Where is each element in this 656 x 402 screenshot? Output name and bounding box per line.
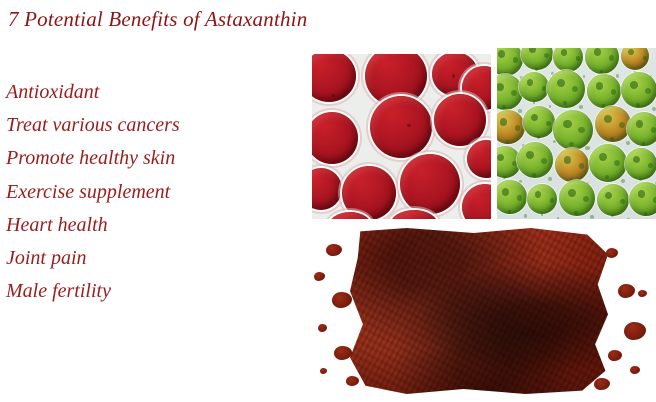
algae-cell: [497, 48, 523, 76]
powder-granule: [314, 272, 325, 281]
algae-cell: [547, 70, 585, 108]
algae-cell: [523, 106, 555, 138]
powder-granule: [594, 378, 610, 390]
list-item: Male fertility: [6, 275, 180, 308]
algae-cell: [595, 106, 631, 142]
algae-cell: [555, 148, 589, 182]
list-item: Joint pain: [6, 242, 180, 275]
red-cell: [400, 154, 460, 214]
list-item: Promote healthy skin: [6, 142, 180, 175]
powder-granule: [606, 248, 618, 258]
astaxanthin-powder-photo: [308, 228, 656, 394]
powder-granule: [630, 366, 640, 374]
list-item: Heart health: [6, 209, 180, 242]
text-column: 7 Potential Benefits of Astaxanthin Anti…: [6, 0, 306, 402]
red-astaxanthin-cells-photo: [312, 54, 491, 219]
powder-granule: [638, 290, 647, 297]
algae-cell: [625, 148, 656, 180]
algae-cell: [527, 184, 557, 214]
algae-cell: [497, 110, 525, 144]
algae-cell: [553, 48, 583, 72]
list-item: Treat various cancers: [6, 109, 180, 142]
cell-speck: [407, 124, 411, 127]
algae-cell: [597, 184, 629, 216]
red-cell: [462, 184, 491, 219]
red-cell: [370, 96, 432, 158]
algae-cell: [517, 142, 553, 178]
powder-granule: [346, 376, 359, 386]
powder-granule: [332, 292, 352, 308]
red-cell: [434, 94, 486, 146]
algae-cell: [627, 112, 656, 146]
benefits-list: Antioxidant Treat various cancers Promot…: [6, 76, 180, 308]
powder-granule: [326, 244, 342, 256]
cell-speck: [452, 74, 455, 78]
red-cell: [467, 140, 491, 178]
red-cell: [312, 168, 342, 210]
algae-cell: [497, 180, 527, 214]
powder-granule: [618, 284, 635, 298]
algae-cell: [521, 48, 553, 70]
algae-cell: [621, 72, 656, 108]
algae-cell: [553, 110, 593, 150]
powder-granule: [318, 324, 327, 332]
powder-heap: [350, 228, 608, 394]
red-cell: [312, 112, 358, 164]
page-title: 7 Potential Benefits of Astaxanthin: [8, 7, 307, 32]
algae-cell: [585, 48, 619, 74]
algae-cell: [589, 144, 627, 182]
algae-cell: [587, 74, 621, 108]
cell-speck: [332, 94, 335, 97]
powder-granule: [334, 346, 352, 360]
list-item: Antioxidant: [6, 76, 180, 109]
powder-granule: [624, 322, 646, 340]
green-algae-cells-photo: [497, 48, 656, 219]
algae-cell: [559, 180, 595, 216]
powder-granule: [320, 368, 327, 374]
algae-cell: [621, 48, 649, 70]
list-item: Exercise supplement: [6, 176, 180, 209]
powder-granule: [608, 350, 622, 361]
infographic-page: 7 Potential Benefits of Astaxanthin Anti…: [0, 0, 656, 402]
algae-cell: [629, 182, 656, 216]
algae-cell: [519, 72, 549, 102]
